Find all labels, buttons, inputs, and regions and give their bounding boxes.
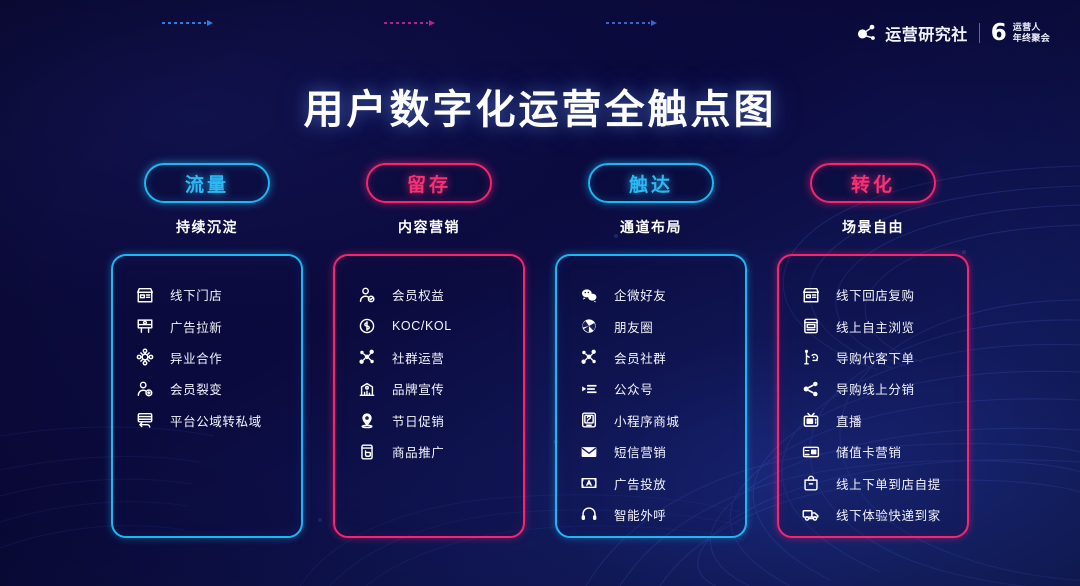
brand-megaphone-icon <box>357 379 376 398</box>
list-item-label: 直播 <box>836 411 862 430</box>
list-item[interactable]: 导购线上分销 <box>779 373 967 404</box>
list-item[interactable]: 社群运营 <box>335 342 523 373</box>
stage-pill-chuda[interactable]: 触达 <box>588 163 714 203</box>
molecule-node-icon <box>856 23 878 43</box>
mobile-tap-icon <box>357 442 376 461</box>
stage-subtitle-liucun: 内容营销 <box>398 217 460 237</box>
list-item-label: 异业合作 <box>170 348 222 367</box>
list-item-label: 导购代客下单 <box>836 348 915 367</box>
community-nodes-icon <box>357 348 376 367</box>
moments-circle-icon <box>579 317 598 336</box>
list-item[interactable]: 商品推广 <box>335 436 523 467</box>
list-item[interactable]: 异业合作 <box>113 342 301 373</box>
list-item-label: 短信营销 <box>614 442 666 461</box>
list-item[interactable]: KOC/KOL <box>335 310 523 341</box>
anniversary-text: 运营人 年终聚会 <box>1013 22 1050 44</box>
list-item-label: 会员裂变 <box>170 379 222 398</box>
live-tv-icon <box>801 411 820 430</box>
connector-arrow-2 <box>384 20 438 26</box>
guide-assist-icon <box>801 348 820 367</box>
list-item[interactable]: 平台公域转私域 <box>113 405 301 436</box>
envelope-icon <box>579 442 598 461</box>
list-item-label: 线上下单到店自提 <box>836 474 941 493</box>
connector-arrowhead <box>651 20 657 26</box>
stage-pill-liuliang[interactable]: 流量 <box>144 163 270 203</box>
billboard-icon <box>135 317 154 336</box>
platform-transfer-icon <box>135 411 154 430</box>
connector-dashes <box>162 22 206 24</box>
list-item-label: 广告拉新 <box>170 317 222 336</box>
list-item[interactable]: 短信营销 <box>557 436 745 467</box>
brand-divider <box>979 23 980 43</box>
influencer-medal-icon <box>357 317 376 336</box>
share-nodes-icon <box>801 379 820 398</box>
column-liuliang: 流量持续沉淀线下门店广告拉新异业合作会员裂变平台公域转私域 <box>96 163 318 538</box>
column-zhuanhua: 转化场景自由线下回店复购线上自主浏览导购代客下单导购线上分销直播储值卡营销线上下… <box>762 163 984 538</box>
list-item[interactable]: 广告拉新 <box>113 310 301 341</box>
connector-arrowhead <box>207 20 213 26</box>
list-item[interactable]: 企微好友 <box>557 279 745 310</box>
anniversary-line-2: 年终聚会 <box>1013 33 1050 44</box>
list-item[interactable]: 储值卡营销 <box>779 436 967 467</box>
list-item-label: 导购线上分销 <box>836 379 915 398</box>
list-item-label: 会员权益 <box>392 285 444 304</box>
touchpoint-card-zhuanhua: 线下回店复购线上自主浏览导购代客下单导购线上分销直播储值卡营销线上下单到店自提线… <box>777 254 969 538</box>
list-item[interactable]: 直播 <box>779 405 967 436</box>
stored-value-card-icon <box>801 442 820 461</box>
list-item-label: 商品推广 <box>392 442 444 461</box>
member-badge-icon <box>357 285 376 304</box>
list-item[interactable]: 品牌宣传 <box>335 373 523 404</box>
brand-primary: 运营研究社 <box>856 21 968 45</box>
list-item-label: 品牌宣传 <box>392 379 444 398</box>
connector-arrow-1 <box>162 20 216 26</box>
delivery-truck-icon <box>801 505 820 524</box>
list-item-label: 储值卡营销 <box>836 442 902 461</box>
stage-subtitle-chuda: 通道布局 <box>620 217 682 237</box>
list-item[interactable]: 广告投放 <box>557 467 745 498</box>
stage-pill-liucun[interactable]: 留存 <box>366 163 492 203</box>
list-item-label: 公众号 <box>614 379 653 398</box>
anniversary-badge: 6 运营人 年终聚会 <box>991 22 1050 45</box>
list-item[interactable]: 节日促销 <box>335 405 523 436</box>
list-item-label: 朋友圈 <box>614 317 653 336</box>
list-item-label: 线上自主浏览 <box>836 317 915 336</box>
location-pin-icon <box>357 411 376 430</box>
anniversary-line-1: 运营人 <box>1013 22 1050 33</box>
connector-arrowhead <box>429 20 435 26</box>
list-item[interactable]: 智能外呼 <box>557 499 745 530</box>
column-chuda: 触达通道布局企微好友朋友圈会员社群公众号小程序商城短信营销广告投放智能外呼 <box>540 163 762 538</box>
mini-program-icon <box>579 411 598 430</box>
list-item-label: 企微好友 <box>614 285 666 304</box>
touchpoint-card-liucun: 会员权益KOC/KOL社群运营品牌宣传节日促销商品推广 <box>333 254 525 538</box>
list-item[interactable]: 小程序商城 <box>557 405 745 436</box>
brand-logo: 运营研究社 6 运营人 年终聚会 <box>856 18 1050 48</box>
list-item[interactable]: 线下回店复购 <box>779 279 967 310</box>
connector-dashes <box>606 22 650 24</box>
list-item-label: 平台公域转私域 <box>170 411 262 430</box>
official-account-icon <box>579 379 598 398</box>
touchpoint-card-chuda: 企微好友朋友圈会员社群公众号小程序商城短信营销广告投放智能外呼 <box>555 254 747 538</box>
list-item-label: 线下回店复购 <box>836 285 915 304</box>
list-item-label: KOC/KOL <box>392 319 452 333</box>
list-item-label: 社群运营 <box>392 348 444 367</box>
list-item[interactable]: 朋友圈 <box>557 310 745 341</box>
pickup-bag-icon <box>801 474 820 493</box>
list-item[interactable]: 线上下单到店自提 <box>779 467 967 498</box>
storefront-icon <box>135 285 154 304</box>
list-item-label: 小程序商城 <box>614 411 680 430</box>
brand-name: 运营研究社 <box>885 21 968 45</box>
list-item-label: 节日促销 <box>392 411 444 430</box>
list-item-label: 广告投放 <box>614 474 666 493</box>
network-collab-icon <box>135 348 154 367</box>
list-item[interactable]: 线下门店 <box>113 279 301 310</box>
list-item[interactable]: 会员社群 <box>557 342 745 373</box>
headset-icon <box>579 505 598 524</box>
list-item[interactable]: 会员裂变 <box>113 373 301 404</box>
ad-placement-icon <box>579 474 598 493</box>
list-item[interactable]: 线上自主浏览 <box>779 310 967 341</box>
stage-pill-zhuanhua[interactable]: 转化 <box>810 163 936 203</box>
list-item[interactable]: 导购代客下单 <box>779 342 967 373</box>
connector-dashes <box>384 22 428 24</box>
page-title: 用户数字化运营全触点图 <box>0 77 1080 135</box>
list-item-label: 线下体验快递到家 <box>836 505 941 524</box>
wechat-work-icon <box>579 285 598 304</box>
slide-canvas: 运营研究社 6 运营人 年终聚会 用户数字化运营全触点图 流量持续沉淀线下门店广… <box>0 0 1080 586</box>
community-nodes-icon <box>579 348 598 367</box>
anniversary-number: 6 <box>991 22 1007 45</box>
list-item[interactable]: 线下体验快递到家 <box>779 499 967 530</box>
touchpoint-card-liuliang: 线下门店广告拉新异业合作会员裂变平台公域转私域 <box>111 254 303 538</box>
touchpoint-columns: 流量持续沉淀线下门店广告拉新异业合作会员裂变平台公域转私域留存内容营销会员权益K… <box>0 163 1080 538</box>
stage-subtitle-liuliang: 持续沉淀 <box>176 217 238 237</box>
list-item[interactable]: 公众号 <box>557 373 745 404</box>
column-liucun: 留存内容营销会员权益KOC/KOL社群运营品牌宣传节日促销商品推广 <box>318 163 540 538</box>
browse-screen-icon <box>801 317 820 336</box>
stage-subtitle-zhuanhua: 场景自由 <box>842 217 904 237</box>
connector-arrow-3 <box>606 20 660 26</box>
list-item-label: 线下门店 <box>170 285 222 304</box>
list-item-label: 智能外呼 <box>614 505 666 524</box>
list-item[interactable]: 会员权益 <box>335 279 523 310</box>
list-item-label: 会员社群 <box>614 348 666 367</box>
user-share-icon <box>135 379 154 398</box>
storefront-icon <box>801 285 820 304</box>
